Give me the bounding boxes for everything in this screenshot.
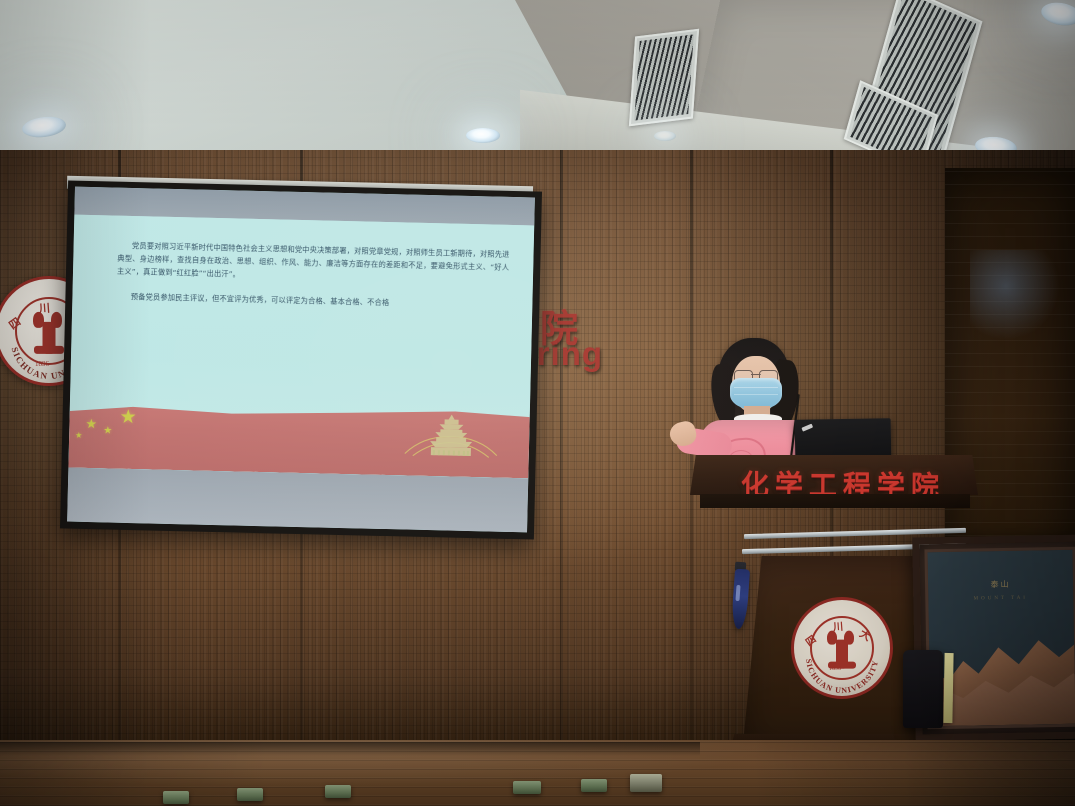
equipment-case bbox=[903, 650, 943, 728]
floor-shadow bbox=[0, 742, 700, 756]
recessed-downlight-icon bbox=[466, 128, 500, 143]
floor-marker bbox=[163, 791, 189, 804]
emblem-arc-text: SICHUAN UNIVERSITY bbox=[794, 600, 890, 696]
floor-marker bbox=[630, 774, 662, 792]
slide-body-text: 党员要对照习近平新时代中国特色社会主义思想和党中央决策部署，对照党章党规，对照师… bbox=[116, 240, 510, 326]
letterbox-bar-bottom bbox=[67, 468, 528, 533]
sichuan-university-emblem-icon: 四 川 大 1896 SICHUAN UNIVERSITY bbox=[791, 597, 893, 699]
floor-marker bbox=[581, 779, 607, 792]
hvac-vent-icon bbox=[629, 29, 699, 127]
podium-ledge bbox=[700, 494, 970, 508]
temple-of-heaven-icon bbox=[403, 409, 500, 463]
wall-light-glint bbox=[970, 250, 1060, 340]
floor-marker bbox=[513, 781, 541, 794]
room-photo: 四 川 大 1896 SICHUAN UNIV 学院 eering 党员要对照习… bbox=[0, 0, 1075, 806]
slide-paragraph: 党员要对照习近平新时代中国特色社会主义思想和党中央决策部署，对照党章党规，对照师… bbox=[117, 240, 510, 288]
artwork-title: 泰山 bbox=[928, 578, 1073, 592]
svg-text:SICHUAN UNIVERSITY: SICHUAN UNIVERSITY bbox=[804, 658, 880, 695]
measuring-stick bbox=[943, 653, 953, 723]
floor-marker bbox=[237, 788, 263, 801]
right-wall-panel bbox=[945, 168, 1075, 588]
recessed-downlight-icon bbox=[654, 131, 676, 141]
projection-screen: 党员要对照习近平新时代中国特色社会主义思想和党中央决策部署，对照党章党规，对照师… bbox=[60, 180, 542, 539]
laptop-logo-icon bbox=[801, 424, 813, 432]
presentation-slide: 党员要对照习近平新时代中国特色社会主义思想和党中央决策部署，对照党章党规，对照师… bbox=[68, 215, 534, 479]
floor-marker bbox=[325, 785, 351, 798]
artwork-subtitle: MOUNT TAI bbox=[928, 595, 1073, 603]
slide-paragraph: 预备党员参加民主评议，但不宜评为优秀，可以评定为合格、基本合格、不合格 bbox=[116, 291, 508, 313]
